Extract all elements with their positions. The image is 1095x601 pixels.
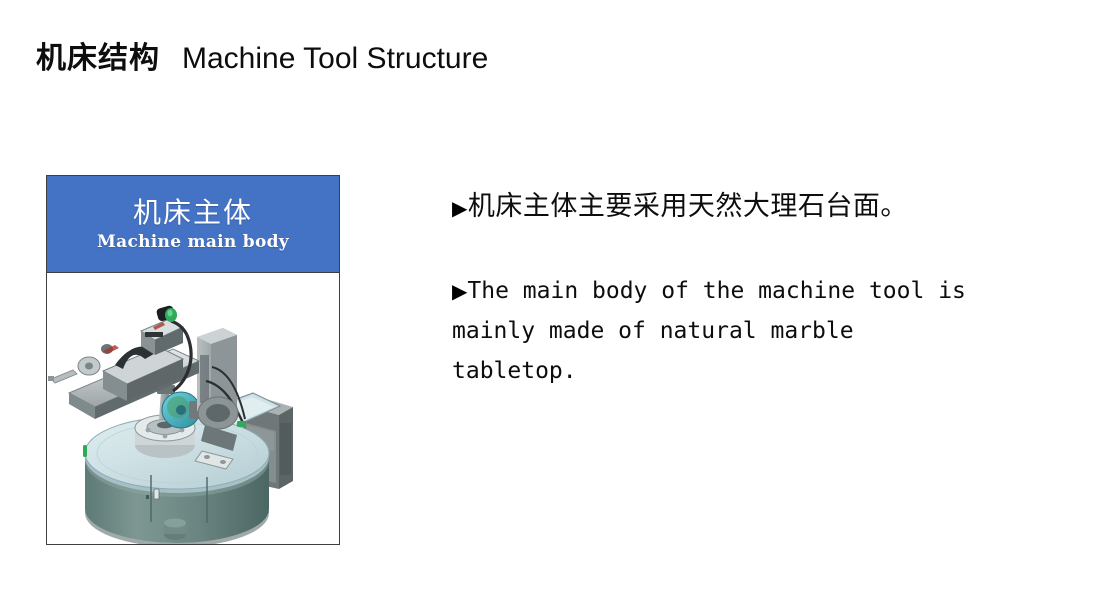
paragraph-english: ▶The main body of the machine tool is ma…: [452, 271, 972, 391]
bullet-marker-icon-en: ▶: [452, 279, 467, 303]
paragraph-english-text: ▶The main body of the machine tool is ma…: [452, 271, 972, 391]
paragraph-chinese-text: ▶机床主体主要采用天然大理石台面。: [452, 186, 972, 229]
content-text-block: ▶机床主体主要采用天然大理石台面。 ▶The main body of the …: [452, 186, 972, 391]
paragraph-spacer: [452, 229, 972, 271]
machine-tool-3d-render: [47, 273, 339, 544]
page-title-english: Machine Tool Structure: [182, 42, 488, 75]
paragraph-chinese-body: 机床主体主要采用天然大理石台面。: [468, 191, 908, 222]
page-title-chinese: 机床结构: [36, 41, 160, 76]
paragraph-chinese: ▶机床主体主要采用天然大理石台面。: [452, 186, 972, 229]
page-title: 机床结构Machine Tool Structure: [36, 38, 488, 80]
paragraph-english-body: The main body of the machine tool is mai…: [452, 278, 966, 384]
card-header-english-label: Machine main body: [97, 231, 289, 253]
card-header-chinese-label: 机床主体: [133, 196, 253, 230]
machine-tool-figure: [47, 273, 339, 544]
bullet-marker-icon: ▶: [452, 196, 468, 220]
machine-main-body-card: 机床主体 Machine main body: [46, 175, 340, 545]
card-header-banner: 机床主体 Machine main body: [47, 176, 339, 273]
